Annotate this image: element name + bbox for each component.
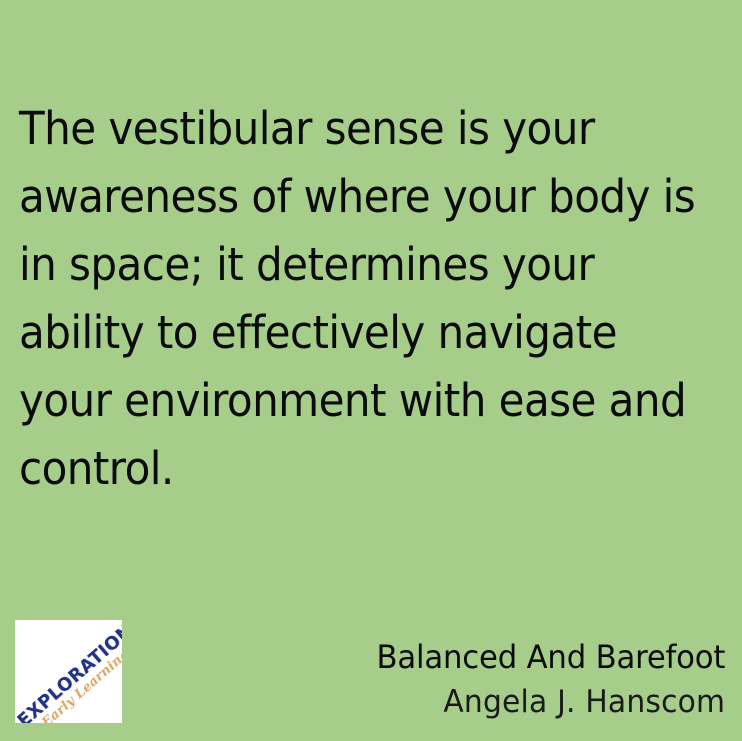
logo-inner: EXPLORATIONS Early Learning [15,620,122,723]
source-title: Balanced And Barefoot [376,635,725,679]
attribution-block: Balanced And Barefoot Angela J. Hanscom [362,635,725,725]
quote-card: The vestibular sense is your awareness o… [0,0,742,741]
source-author: Angela J. Hanscom [376,679,725,725]
quote-line: The vestibular sense is your [19,95,679,163]
quote-line: awareness of where your body is [19,163,679,231]
quote-line: ability to effectively navigate [19,299,679,367]
quote-line: in space; it determines your [19,231,679,299]
quote-line: control. [19,435,679,503]
quote-line: your environment with ease and [19,367,679,435]
quote-text-block: The vestibular sense is your awareness o… [19,95,725,503]
explorations-early-learning-logo: EXPLORATIONS Early Learning [15,620,122,723]
